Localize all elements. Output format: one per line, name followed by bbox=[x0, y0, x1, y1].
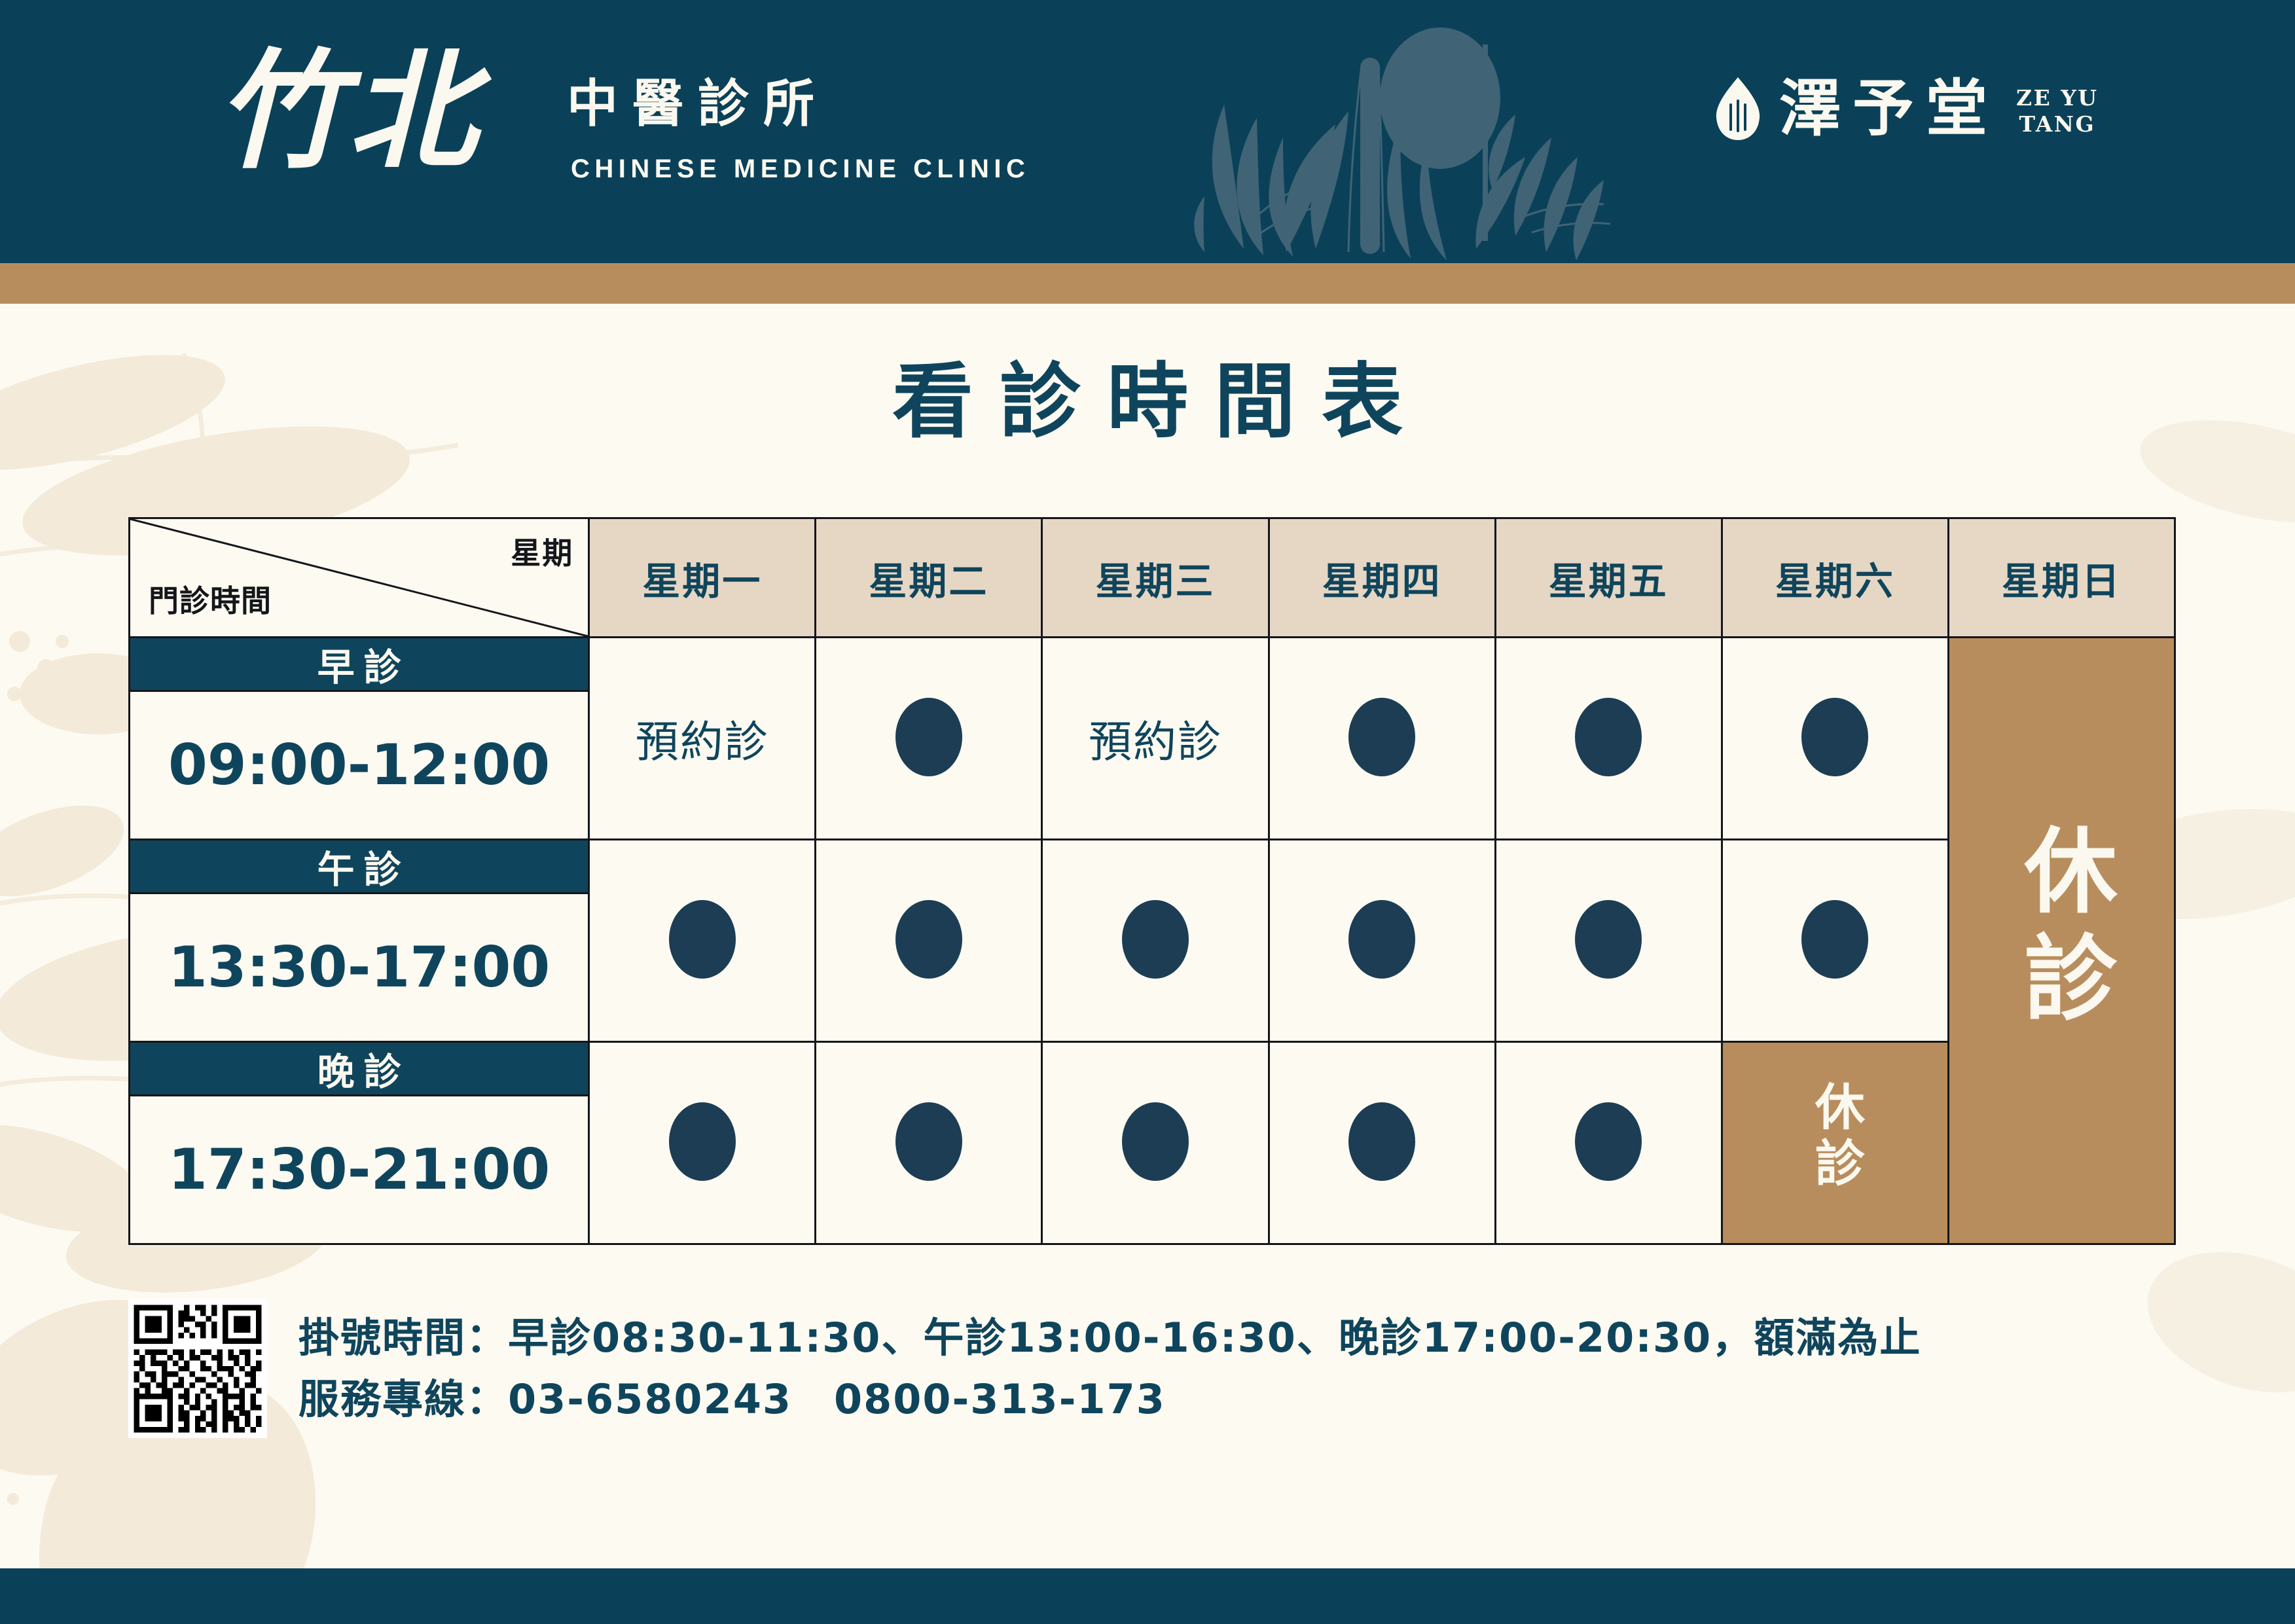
registration-hours-note: 掛號時間：早診08:30-11:30、午診13:00-16:30、晚診17:00… bbox=[298, 1307, 1921, 1369]
session-time-afternoon: 13:30-17:00 bbox=[130, 894, 588, 1041]
cell-morning-monday: 預約診 bbox=[589, 638, 816, 840]
day-header-wednesday: 星期三 bbox=[1042, 518, 1269, 638]
qr-code-icon bbox=[128, 1299, 267, 1438]
schedule-table: 星期 門診時間 星期一 星期二 星期三 星期四 星期五 星期六 星期日 早診 0… bbox=[128, 517, 2176, 1245]
clinic-subtitle-english: CHINESE MEDICINE CLINIC bbox=[571, 156, 1030, 182]
cell-evening-thursday bbox=[1269, 1042, 1495, 1244]
session-time-evening: 17:30-21:00 bbox=[130, 1096, 588, 1243]
open-dot-icon bbox=[1575, 1102, 1642, 1181]
leaf-seal-icon bbox=[1714, 76, 1762, 141]
open-dot-icon bbox=[1348, 698, 1415, 776]
cell-morning-friday bbox=[1495, 638, 1722, 840]
corner-week-label: 星期 bbox=[511, 530, 573, 573]
clinic-logo-chinese: 竹北 bbox=[216, 47, 480, 175]
appointment-label: 預約診 bbox=[636, 717, 769, 766]
cell-afternoon-wednesday bbox=[1042, 840, 1269, 1042]
poster-header: 竹北 中醫診所 CHINESE MEDICINE CLINIC 澤予堂 ZE Y… bbox=[0, 0, 2295, 263]
open-dot-icon bbox=[1801, 900, 1868, 979]
open-dot-icon bbox=[895, 698, 962, 776]
service-phone-note: 服務專線：03-6580243 0800-313-173 bbox=[298, 1369, 1921, 1430]
session-label-morning: 早診 09:00-12:00 bbox=[130, 638, 589, 840]
clinic-subtitle-chinese: 中醫診所 bbox=[567, 79, 829, 130]
session-label-afternoon: 午診 13:30-17:00 bbox=[130, 840, 589, 1042]
bottom-accent-bar bbox=[0, 1568, 2295, 1624]
cell-morning-thursday bbox=[1269, 638, 1495, 840]
cell-afternoon-saturday bbox=[1722, 840, 1948, 1042]
table-row-evening: 晚診 17:30-21:00 休診 bbox=[130, 1042, 2175, 1244]
cell-afternoon-friday bbox=[1495, 840, 1722, 1042]
cell-evening-monday bbox=[589, 1042, 816, 1244]
day-header-thursday: 星期四 bbox=[1269, 518, 1495, 638]
cell-evening-wednesday bbox=[1042, 1042, 1269, 1244]
session-name-afternoon: 午診 bbox=[130, 840, 588, 894]
poster-footer: 掛號時間：早診08:30-11:30、午診13:00-16:30、晚診17:00… bbox=[128, 1299, 2190, 1438]
closed-label-saturday: 休診 bbox=[1807, 1081, 1863, 1193]
closed-label-sunday: 休診 bbox=[1994, 822, 2129, 1037]
qr-code[interactable] bbox=[128, 1299, 267, 1438]
gold-divider-bar bbox=[0, 263, 2295, 304]
header-botanical-art bbox=[1185, 26, 1695, 262]
day-header-friday: 星期五 bbox=[1495, 518, 1722, 638]
open-dot-icon bbox=[1575, 900, 1642, 979]
open-dot-icon bbox=[1122, 900, 1189, 979]
brand-name-english: ZE YU TANG bbox=[2016, 85, 2099, 142]
open-dot-icon bbox=[1122, 1102, 1189, 1181]
day-header-monday: 星期一 bbox=[589, 518, 816, 638]
table-header-row: 星期 門診時間 星期一 星期二 星期三 星期四 星期五 星期六 星期日 bbox=[130, 518, 2175, 638]
table-row-afternoon: 午診 13:30-17:00 bbox=[130, 840, 2175, 1042]
open-dot-icon bbox=[669, 1102, 736, 1181]
cell-morning-tuesday bbox=[816, 638, 1042, 840]
session-time-morning: 09:00-12:00 bbox=[130, 692, 588, 839]
cell-evening-friday bbox=[1495, 1042, 1722, 1244]
cell-evening-tuesday bbox=[816, 1042, 1042, 1244]
open-dot-icon bbox=[1348, 1102, 1415, 1181]
day-header-tuesday: 星期二 bbox=[816, 518, 1042, 638]
session-name-morning: 早診 bbox=[130, 638, 588, 692]
session-name-evening: 晚診 bbox=[130, 1043, 588, 1096]
cell-afternoon-monday bbox=[589, 840, 816, 1042]
day-header-saturday: 星期六 bbox=[1722, 518, 1948, 638]
corner-hours-label: 門診時間 bbox=[149, 577, 272, 621]
open-dot-icon bbox=[1575, 698, 1642, 776]
open-dot-icon bbox=[1801, 698, 1868, 776]
session-label-evening: 晚診 17:30-21:00 bbox=[130, 1042, 589, 1244]
table-row-morning: 早診 09:00-12:00 預約診 預約診 bbox=[130, 638, 2175, 840]
open-dot-icon bbox=[895, 1102, 962, 1181]
open-dot-icon bbox=[1348, 900, 1415, 979]
open-dot-icon bbox=[895, 900, 962, 979]
appointment-label: 預約診 bbox=[1089, 717, 1222, 766]
corner-header-cell: 星期 門診時間 bbox=[130, 518, 589, 638]
brand-lockup: 澤予堂 ZE YU TANG bbox=[1714, 76, 2099, 141]
cell-closed-saturday-evening: 休診 bbox=[1722, 1042, 1948, 1244]
page-title: 看診時間表 bbox=[0, 361, 2295, 442]
clinic-schedule-poster: 竹北 中醫診所 CHINESE MEDICINE CLINIC 澤予堂 ZE Y… bbox=[0, 0, 2295, 1624]
brand-name-chinese: 澤予堂 bbox=[1779, 77, 1999, 141]
cell-closed-sunday: 休診 bbox=[1948, 638, 2175, 1244]
cell-morning-saturday bbox=[1722, 638, 1948, 840]
cell-afternoon-thursday bbox=[1269, 840, 1495, 1042]
open-dot-icon bbox=[669, 900, 736, 979]
footer-text-block: 掛號時間：早診08:30-11:30、午診13:00-16:30、晚診17:00… bbox=[298, 1299, 1921, 1430]
day-header-sunday: 星期日 bbox=[1948, 518, 2175, 638]
cell-morning-wednesday: 預約診 bbox=[1042, 638, 1269, 840]
cell-afternoon-tuesday bbox=[816, 840, 1042, 1042]
